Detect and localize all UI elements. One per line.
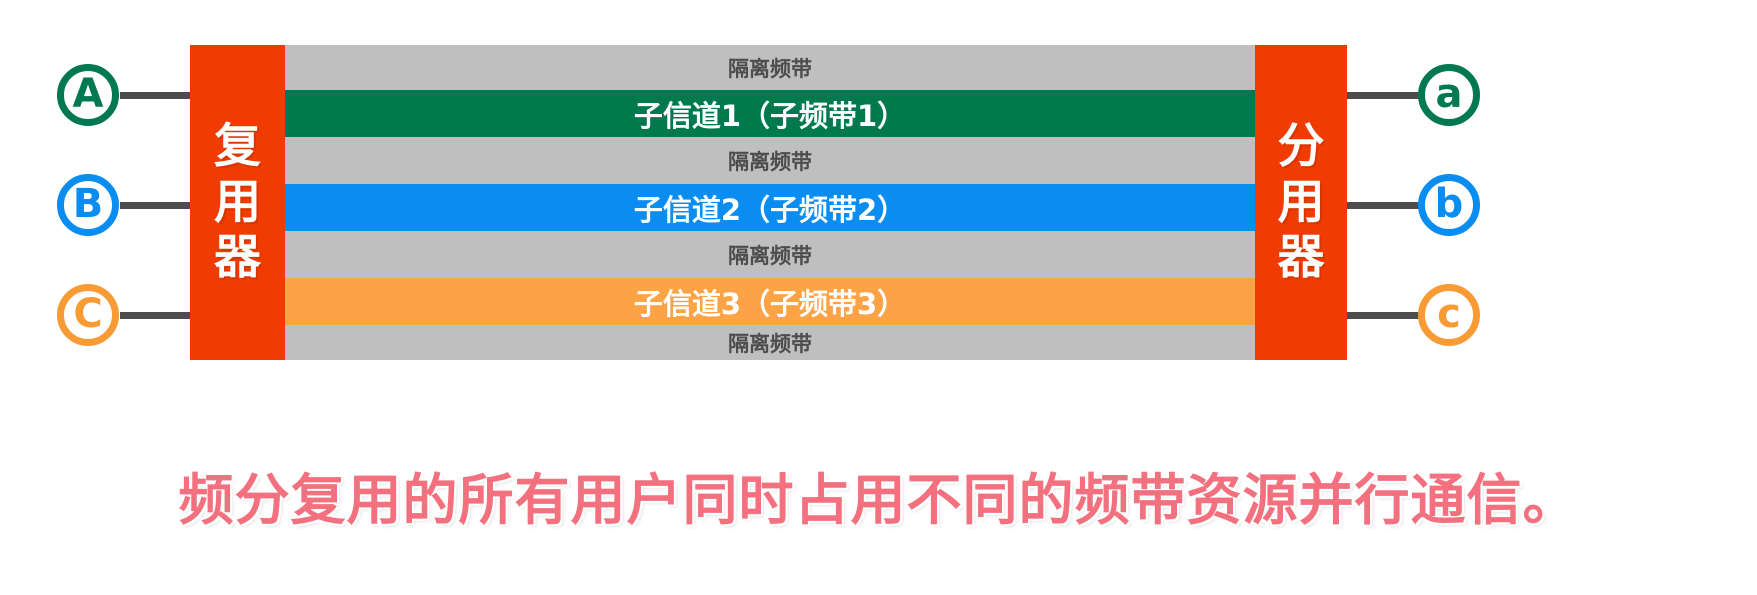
source-node-a[interactable]: A <box>57 64 119 126</box>
connector-line-c <box>120 312 192 319</box>
multiplexer-box[interactable]: 复 用 器 <box>190 45 285 360</box>
sink-node-b[interactable]: b <box>1418 174 1480 236</box>
demultiplexer-char-3: 器 <box>1278 230 1325 285</box>
guard-band-2-label: 隔离频带 <box>728 240 812 270</box>
source-node-b-label: B <box>73 184 104 224</box>
source-node-c[interactable]: C <box>57 284 119 346</box>
multiplexer-char-3: 器 <box>214 230 261 285</box>
guard-band-bottom: 隔离频带 <box>285 325 1255 360</box>
connector-line-a <box>120 92 192 99</box>
fdm-diagram-canvas: A B C 复 用 器 隔离频带 子信道1（子频带1） 隔离频带 子信道2（子频… <box>0 0 1757 595</box>
connector-line-c-out <box>1347 312 1419 319</box>
connector-line-b <box>120 202 192 209</box>
demultiplexer-char-2: 用 <box>1278 175 1325 230</box>
source-node-a-label: A <box>73 74 104 114</box>
guard-band-top: 隔离频带 <box>285 45 1255 90</box>
sub-channel-2-label: 子信道2（子频带2） <box>634 187 906 229</box>
sink-node-b-label: b <box>1435 184 1464 224</box>
guard-band-top-label: 隔离频带 <box>728 53 812 83</box>
sink-node-a[interactable]: a <box>1418 64 1480 126</box>
multiplexer-char-1: 复 <box>214 119 261 174</box>
guard-band-bottom-label: 隔离频带 <box>728 328 812 358</box>
sub-channel-3[interactable]: 子信道3（子频带3） <box>285 278 1255 325</box>
connector-line-a-out <box>1347 92 1419 99</box>
multiplexer-char-2: 用 <box>214 175 261 230</box>
guard-band-1-label: 隔离频带 <box>728 146 812 176</box>
guard-band-1: 隔离频带 <box>285 137 1255 184</box>
demultiplexer-box[interactable]: 分 用 器 <box>1255 45 1347 360</box>
source-node-b[interactable]: B <box>57 174 119 236</box>
sub-channel-3-label: 子信道3（子频带3） <box>634 281 906 323</box>
demultiplexer-char-1: 分 <box>1278 119 1325 174</box>
source-node-c-label: C <box>73 294 102 334</box>
sink-node-a-label: a <box>1436 74 1463 114</box>
guard-band-2: 隔离频带 <box>285 231 1255 278</box>
sub-channel-2[interactable]: 子信道2（子频带2） <box>285 184 1255 231</box>
frequency-band-stack: 隔离频带 子信道1（子频带1） 隔离频带 子信道2（子频带2） 隔离频带 子信道… <box>285 45 1255 360</box>
sink-node-c[interactable]: c <box>1418 284 1480 346</box>
sub-channel-1[interactable]: 子信道1（子频带1） <box>285 90 1255 137</box>
sub-channel-1-label: 子信道1（子频带1） <box>634 93 906 135</box>
connector-line-b-out <box>1347 202 1419 209</box>
sink-node-c-label: c <box>1437 294 1461 334</box>
caption-text: 频分复用的所有用户同时占用不同的频带资源并行通信。 <box>0 455 1757 535</box>
